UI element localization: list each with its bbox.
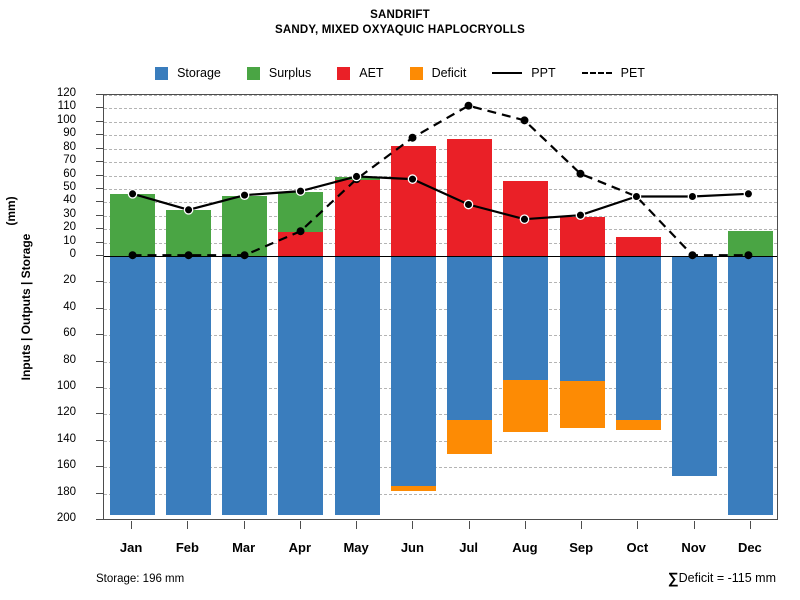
y-tick-upper <box>96 215 103 216</box>
y-tick-label-upper: 10 <box>36 236 76 247</box>
bar-segment-storage <box>335 256 380 515</box>
legend-item-surplus[interactable]: Surplus <box>247 66 311 80</box>
y-tick-label-lower: 120 <box>36 407 76 418</box>
x-tick-nov <box>694 521 695 529</box>
ppt-marker <box>744 190 752 198</box>
deficit-footnote-text: Deficit = -115 mm <box>679 571 776 585</box>
bar-upper-mar[interactable] <box>222 196 267 256</box>
chart-root: SANDRIFT SANDY, MIXED OXYAQUIC HAPLOCRYO… <box>0 0 800 600</box>
bar-upper-aug[interactable] <box>503 181 548 256</box>
y-tick-lower <box>96 308 103 309</box>
plot-area <box>103 94 778 520</box>
bar-lower-apr[interactable] <box>278 256 323 515</box>
gridline-upper <box>104 122 777 123</box>
bar-upper-apr[interactable] <box>278 192 323 256</box>
ppt-marker <box>632 192 640 200</box>
y-axis-unit: (mm) <box>4 166 18 256</box>
bar-segment-surplus <box>278 192 323 232</box>
x-axis-label-jan: Jan <box>101 540 161 555</box>
bar-lower-mar[interactable] <box>222 256 267 515</box>
bar-segment-storage <box>616 256 661 420</box>
y-tick-upper <box>96 161 103 162</box>
y-axis-label: Inputs | Outputs | Storage <box>19 197 33 417</box>
legend-swatch-aet-icon <box>337 67 350 80</box>
y-tick-lower <box>96 466 103 467</box>
bar-segment-deficit <box>560 381 605 427</box>
x-axis-label-jun: Jun <box>382 540 442 555</box>
bar-lower-aug[interactable] <box>503 256 548 432</box>
y-tick-label-upper: 30 <box>36 209 76 220</box>
bar-segment-aet <box>560 217 605 256</box>
legend-item-pet[interactable]: PET <box>582 66 645 80</box>
x-axis-label-mar: Mar <box>214 540 274 555</box>
bar-lower-oct[interactable] <box>616 256 661 430</box>
x-tick-jun <box>412 521 413 529</box>
zero-axis-line <box>104 256 777 257</box>
bar-lower-feb[interactable] <box>166 256 211 515</box>
x-tick-sep <box>581 521 582 529</box>
bar-upper-sep[interactable] <box>560 217 605 256</box>
bar-segment-aet <box>447 139 492 256</box>
bar-segment-deficit <box>391 486 436 491</box>
x-axis-label-aug: Aug <box>495 540 555 555</box>
y-tick-label-upper: 100 <box>36 115 76 126</box>
legend-label-storage: Storage <box>177 66 221 80</box>
bar-segment-aet <box>391 146 436 256</box>
bar-upper-may[interactable] <box>335 177 380 256</box>
bar-lower-jun[interactable] <box>391 256 436 491</box>
y-tick-label-upper: 0 <box>36 249 76 260</box>
bar-lower-may[interactable] <box>335 256 380 515</box>
legend-item-deficit[interactable]: Deficit <box>410 66 467 80</box>
bar-lower-jul[interactable] <box>447 256 492 454</box>
legend-item-ppt[interactable]: PPT <box>492 66 555 80</box>
legend-label-surplus: Surplus <box>269 66 311 80</box>
x-axis-label-feb: Feb <box>157 540 217 555</box>
y-tick-label-upper: 120 <box>36 88 76 99</box>
gridline-upper <box>104 149 777 150</box>
gridline-upper <box>104 135 777 136</box>
legend-swatch-storage-icon <box>155 67 168 80</box>
gridline-upper <box>104 162 777 163</box>
x-tick-feb <box>187 521 188 529</box>
y-tick-label-upper: 50 <box>36 182 76 193</box>
y-tick-upper <box>96 134 103 135</box>
legend-item-aet[interactable]: AET <box>337 66 383 80</box>
pet-marker <box>520 116 528 124</box>
pet-marker <box>632 193 640 201</box>
bar-segment-storage <box>391 256 436 486</box>
bar-segment-storage <box>447 256 492 420</box>
sigma-symbol: ∑ <box>668 570 679 587</box>
y-tick-lower <box>96 440 103 441</box>
bar-upper-oct[interactable] <box>616 237 661 256</box>
bar-segment-aet <box>278 232 323 256</box>
x-axis-label-sep: Sep <box>551 540 611 555</box>
deficit-footnote: ∑Deficit = -115 mm <box>668 570 776 587</box>
y-tick-label-upper: 60 <box>36 169 76 180</box>
bar-lower-nov[interactable] <box>672 256 717 476</box>
y-tick-label-lower: 160 <box>36 460 76 471</box>
y-tick-lower <box>96 281 103 282</box>
bar-segment-deficit <box>503 380 548 431</box>
y-tick-label-lower: 100 <box>36 381 76 392</box>
y-tick-label-upper: 20 <box>36 222 76 233</box>
x-tick-jul <box>469 521 470 529</box>
y-tick-upper <box>96 175 103 176</box>
x-tick-mar <box>244 521 245 529</box>
x-axis-label-may: May <box>326 540 386 555</box>
title-line-1: SANDRIFT <box>0 8 800 23</box>
y-tick-label-upper: 90 <box>36 128 76 139</box>
x-tick-may <box>356 521 357 529</box>
y-tick-upper <box>96 148 103 149</box>
storage-footnote: Storage: 196 mm <box>96 573 184 585</box>
gridline-upper <box>104 202 777 203</box>
y-tick-lower <box>96 334 103 335</box>
y-tick-upper <box>96 201 103 202</box>
bar-upper-jun[interactable] <box>391 146 436 256</box>
y-tick-label-upper: 80 <box>36 142 76 153</box>
gridline-upper <box>104 176 777 177</box>
y-tick-upper <box>96 255 103 256</box>
y-tick-upper <box>96 94 103 95</box>
bar-segment-deficit <box>616 420 661 431</box>
pet-marker <box>576 170 584 178</box>
bar-upper-jan[interactable] <box>110 194 155 256</box>
y-tick-lower <box>96 493 103 494</box>
legend-label-aet: AET <box>359 66 383 80</box>
x-tick-oct <box>637 521 638 529</box>
x-axis-label-oct: Oct <box>607 540 667 555</box>
y-tick-label-lower: 140 <box>36 434 76 445</box>
y-tick-lower <box>96 519 103 520</box>
bar-segment-surplus <box>222 196 267 256</box>
ppt-marker <box>688 192 696 200</box>
bar-lower-dec[interactable] <box>728 256 773 515</box>
y-tick-label-lower: 20 <box>36 275 76 286</box>
x-tick-aug <box>525 521 526 529</box>
bar-segment-storage <box>222 256 267 515</box>
y-tick-lower <box>96 361 103 362</box>
gridline-upper <box>104 108 777 109</box>
y-tick-upper <box>96 188 103 189</box>
bar-segment-aet <box>616 237 661 256</box>
legend-line-ppt-icon <box>492 72 522 74</box>
bar-segment-deficit <box>447 420 492 454</box>
bar-segment-surplus <box>166 210 211 256</box>
y-tick-label-lower: 80 <box>36 355 76 366</box>
legend-label-deficit: Deficit <box>432 66 467 80</box>
legend-swatch-deficit-icon <box>410 67 423 80</box>
bar-segment-storage <box>166 256 211 515</box>
y-tick-upper <box>96 121 103 122</box>
x-tick-dec <box>750 521 751 529</box>
bar-upper-jul[interactable] <box>447 139 492 256</box>
y-tick-label-lower: 180 <box>36 487 76 498</box>
gridline-upper <box>104 95 777 96</box>
y-tick-lower <box>96 413 103 414</box>
gridline-upper <box>104 189 777 190</box>
x-axis-label-jul: Jul <box>439 540 499 555</box>
y-tick-upper <box>96 228 103 229</box>
bar-segment-storage <box>110 256 155 515</box>
y-tick-upper <box>96 242 103 243</box>
y-tick-label-lower: 60 <box>36 328 76 339</box>
y-tick-label-lower: 200 <box>36 513 76 524</box>
bar-upper-feb[interactable] <box>166 210 211 256</box>
y-tick-label-lower: 40 <box>36 302 76 313</box>
x-axis-label-nov: Nov <box>664 540 724 555</box>
y-tick-label-upper: 70 <box>36 155 76 166</box>
x-axis-label-dec: Dec <box>720 540 780 555</box>
y-tick-lower <box>96 387 103 388</box>
bar-segment-storage <box>278 256 323 515</box>
legend-item-storage[interactable]: Storage <box>155 66 221 80</box>
y-tick-upper <box>96 107 103 108</box>
bar-segment-surplus <box>110 194 155 256</box>
bar-lower-jan[interactable] <box>110 256 155 515</box>
legend-label-ppt: PPT <box>531 66 555 80</box>
bar-segment-aet <box>335 180 380 256</box>
bar-segment-storage <box>560 256 605 381</box>
x-tick-apr <box>300 521 301 529</box>
y-tick-label-upper: 40 <box>36 195 76 206</box>
bar-segment-storage <box>672 256 717 476</box>
bar-segment-surplus <box>728 231 773 256</box>
bar-segment-storage <box>728 256 773 515</box>
y-tick-label-upper: 110 <box>36 101 76 112</box>
legend-line-pet-icon <box>582 72 612 74</box>
bar-upper-dec[interactable] <box>728 231 773 256</box>
legend-label-pet: PET <box>621 66 645 80</box>
bar-segment-aet <box>503 181 548 256</box>
chart-legend: StorageSurplusAETDeficitPPTPET <box>0 66 800 80</box>
x-tick-jan <box>131 521 132 529</box>
bar-segment-storage <box>503 256 548 380</box>
title-line-2: SANDY, MIXED OXYAQUIC HAPLOCRYOLLS <box>0 23 800 38</box>
legend-swatch-surplus-icon <box>247 67 260 80</box>
bar-lower-sep[interactable] <box>560 256 605 428</box>
x-axis-label-apr: Apr <box>270 540 330 555</box>
chart-title: SANDRIFT SANDY, MIXED OXYAQUIC HAPLOCRYO… <box>0 8 800 38</box>
